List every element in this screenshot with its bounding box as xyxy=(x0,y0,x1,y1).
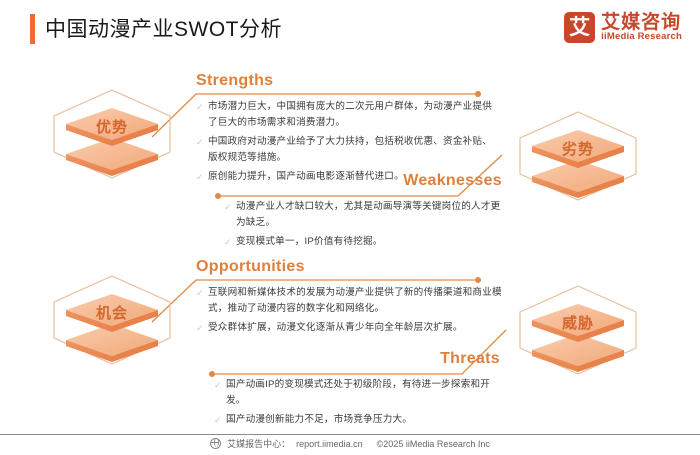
check-icon: ✓ xyxy=(224,199,236,231)
section-heading-strengths: Strengths xyxy=(196,72,496,90)
bullet-list-threats: ✓ 国产动画IP的变现模式还处于初级阶段，有待进一步探索和开发。 ✓ 国产动漫创… xyxy=(214,377,500,428)
page-title: 中国动漫产业SWOT分析 xyxy=(45,13,282,43)
footer-source-label: 艾媒报告中心： xyxy=(227,437,290,450)
section-strengths: Strengths ✓ 市场潜力巨大，中国拥有庞大的二次元用户群体，为动漫产业提… xyxy=(196,72,496,188)
section-heading-threats: Threats xyxy=(200,350,500,368)
bullet-list-weaknesses: ✓ 动漫产业人才缺口较大，尤其是动画导演等关键岗位的人才更为缺乏。 ✓ 变现模式… xyxy=(224,199,502,250)
page-header: 中国动漫产业SWOT分析 艾 艾媒咨询 iiMedia Research xyxy=(0,0,700,58)
section-opportunities: Opportunities ✓ 互联网和新媒体技术的发展为动漫产业提供了新的传播… xyxy=(196,258,504,339)
list-item-text: 互联网和新媒体技术的发展为动漫产业提供了新的传播渠道和商业模式，推动了动漫内容的… xyxy=(208,285,504,317)
brand-logo: 艾 艾媒咨询 iiMedia Research xyxy=(564,12,682,43)
quadrant-block-threats: 威胁 xyxy=(508,282,648,378)
section-heading-weaknesses: Weaknesses xyxy=(210,172,502,190)
list-item: ✓ 动漫产业人才缺口较大，尤其是动画导演等关键岗位的人才更为缺乏。 xyxy=(224,199,502,231)
quadrant-block-opportunities: 机会 xyxy=(42,272,182,368)
page-footer: 艾媒报告中心： report.iimedia.cn ©2025 iiMedia … xyxy=(0,437,700,450)
check-icon: ✓ xyxy=(214,377,226,409)
list-item: ✓ 互联网和新媒体技术的发展为动漫产业提供了新的传播渠道和商业模式，推动了动漫内… xyxy=(196,285,504,317)
globe-icon xyxy=(210,438,221,449)
list-item: ✓ 国产动画IP的变现模式还处于初级阶段，有待进一步探索和开发。 xyxy=(214,377,500,409)
list-item: ✓ 国产动漫创新能力不足，市场竞争压力大。 xyxy=(214,412,500,428)
list-item: ✓ 变现模式单一，IP价值有待挖掘。 xyxy=(224,234,502,250)
check-icon: ✓ xyxy=(196,169,208,185)
footer-url[interactable]: report.iimedia.cn xyxy=(296,439,363,449)
list-item: ✓ 受众群体扩展，动漫文化逐渐从青少年向全年龄层次扩展。 xyxy=(196,320,504,336)
title-accent-bar xyxy=(30,14,35,44)
check-icon: ✓ xyxy=(196,285,208,317)
list-item-text: 动漫产业人才缺口较大，尤其是动画导演等关键岗位的人才更为缺乏。 xyxy=(236,199,502,231)
list-item: ✓ 市场潜力巨大，中国拥有庞大的二次元用户群体，为动漫产业提供了巨大的市场需求和… xyxy=(196,99,496,131)
list-item: ✓ 中国政府对动漫产业给予了大力扶持，包括税收优惠、资金补贴、版权规范等措施。 xyxy=(196,134,496,166)
quadrant-block-strengths: 优势 xyxy=(42,86,182,182)
list-item-text: 变现模式单一，IP价值有待挖掘。 xyxy=(236,234,502,250)
logo-text: 艾媒咨询 iiMedia Research xyxy=(601,13,682,43)
section-threats: Threats ✓ 国产动画IP的变现模式还处于初级阶段，有待进一步探索和开发。… xyxy=(200,350,500,431)
bullet-list-opportunities: ✓ 互联网和新媒体技术的发展为动漫产业提供了新的传播渠道和商业模式，推动了动漫内… xyxy=(196,285,504,336)
footer-copyright: ©2025 iiMedia Research Inc xyxy=(377,439,490,449)
quadrant-block-weaknesses: 劣势 xyxy=(508,108,648,204)
list-item-text: 国产动画IP的变现模式还处于初级阶段，有待进一步探索和开发。 xyxy=(226,377,500,409)
logo-mark-icon: 艾 xyxy=(564,12,595,43)
section-weaknesses: Weaknesses ✓ 动漫产业人才缺口较大，尤其是动画导演等关键岗位的人才更… xyxy=(210,172,502,253)
check-icon: ✓ xyxy=(224,234,236,250)
logo-name-cn: 艾媒咨询 xyxy=(601,13,682,33)
footer-divider xyxy=(0,434,700,435)
check-icon: ✓ xyxy=(196,99,208,131)
list-item-text: 国产动漫创新能力不足，市场竞争压力大。 xyxy=(226,412,500,428)
section-heading-opportunities: Opportunities xyxy=(196,258,504,276)
list-item-text: 受众群体扩展，动漫文化逐渐从青少年向全年龄层次扩展。 xyxy=(208,320,504,336)
check-icon: ✓ xyxy=(214,412,226,428)
check-icon: ✓ xyxy=(196,134,208,166)
list-item-text: 市场潜力巨大，中国拥有庞大的二次元用户群体，为动漫产业提供了巨大的市场需求和消费… xyxy=(208,99,496,131)
check-icon: ✓ xyxy=(196,320,208,336)
logo-name-en: iiMedia Research xyxy=(601,32,682,42)
list-item-text: 中国政府对动漫产业给予了大力扶持，包括税收优惠、资金补贴、版权规范等措施。 xyxy=(208,134,496,166)
